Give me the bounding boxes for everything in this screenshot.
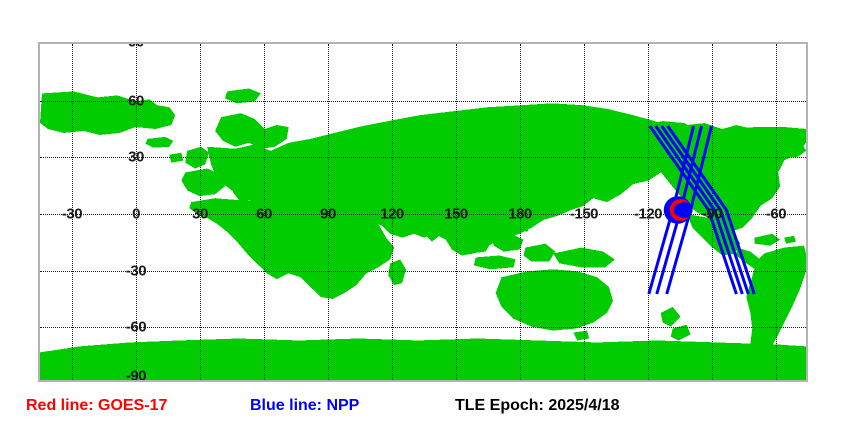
legend-red-line-goes17: Red line: GOES-17 [26, 398, 167, 414]
landmass-antarctica [40, 338, 806, 380]
world-map-frame: -30 0 30 60 90 120 150 180 -150 -120 -90… [38, 42, 808, 382]
lon-tick--60: -60 [766, 207, 786, 222]
lon-tick--120: -120 [634, 207, 662, 222]
gridline-lat-60 [40, 101, 806, 102]
landmass-iceland [145, 137, 173, 148]
lon-tick-180: 180 [508, 207, 532, 222]
lon-tick-120: 120 [380, 207, 404, 222]
landmass-australia [496, 269, 613, 330]
lon-tick--30: -30 [62, 207, 82, 222]
lat-tick--60: -60 [126, 320, 146, 335]
legend-blue-line-npp: Blue line: NPP [250, 398, 359, 414]
lon-tick--90: -90 [702, 207, 722, 222]
landmass-scandinavia [215, 113, 289, 149]
landmass-new-zealand [661, 307, 691, 341]
lon-tick-60: 60 [256, 207, 272, 222]
landmass-indonesia [460, 234, 556, 270]
world-map-canvas: -30 0 30 60 90 120 150 180 -150 -120 -90… [40, 44, 806, 380]
lon-tick--150: -150 [570, 207, 598, 222]
lon-tick-150: 150 [444, 207, 468, 222]
lat-tick--30: -30 [126, 264, 146, 279]
landmass-madagascar [388, 259, 406, 285]
gridline-lat-30 [40, 157, 806, 158]
landmass-tasmania [573, 331, 589, 341]
gridline-lat-0 [40, 214, 806, 215]
lat-tick--90: -90 [126, 369, 146, 383]
lon-tick-90: 90 [320, 207, 336, 222]
landmass-greenland [40, 91, 175, 134]
map-legend: Red line: GOES-17 Blue line: NPP TLE Epo… [0, 392, 850, 425]
lat-tick-90: 90 [128, 42, 144, 50]
lat-tick-60: 60 [128, 94, 144, 109]
lat-tick-30: 30 [128, 150, 144, 165]
landmass-layer [40, 44, 806, 380]
lon-tick-30: 30 [192, 207, 208, 222]
satellite-track-map-page: -30 0 30 60 90 120 150 180 -150 -120 -90… [0, 0, 850, 425]
gridline-lat--60 [40, 327, 806, 328]
gridline-lat--30 [40, 271, 806, 272]
legend-tle-epoch: TLE Epoch: 2025/4/18 [455, 398, 620, 414]
lon-tick-0: 0 [132, 207, 140, 222]
